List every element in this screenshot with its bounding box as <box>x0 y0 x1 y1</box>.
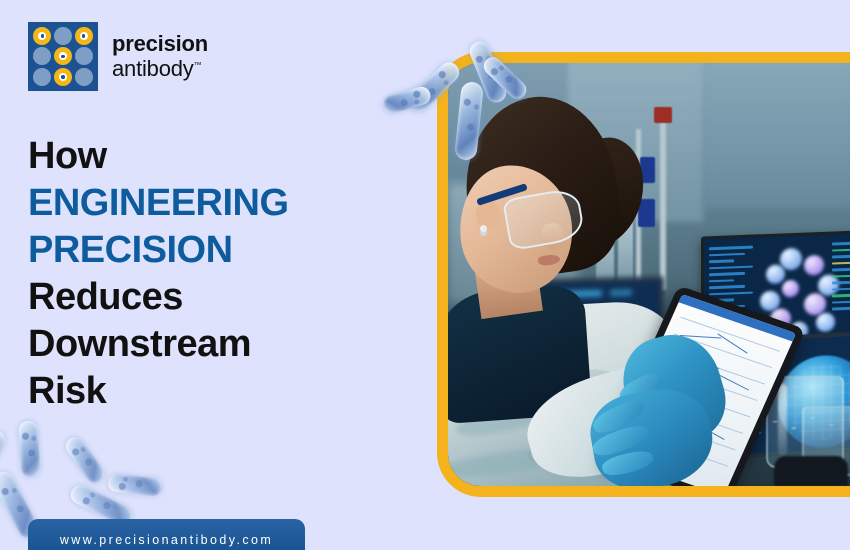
earring <box>480 225 487 232</box>
ui-line <box>832 300 850 304</box>
headline-line-1: How <box>28 133 388 180</box>
lab-scene <box>448 63 850 486</box>
headline-line-6: Risk <box>28 368 388 415</box>
website-url-text: www.precisionantibody.com <box>60 533 273 547</box>
ui-line <box>832 241 850 245</box>
logo-dot-gold <box>75 27 93 45</box>
logo-dot-grey <box>33 68 51 86</box>
ui-line <box>832 306 850 310</box>
brand-name-line1: precision <box>112 33 208 55</box>
logo-dot-grey <box>75 68 93 86</box>
brand-name-line2: antibody™ <box>112 58 208 80</box>
ui-line <box>832 281 850 284</box>
ui-line <box>832 261 850 265</box>
headline-line-4: Reduces <box>28 274 388 321</box>
logo-dot-gold <box>54 68 72 86</box>
ui-line <box>832 267 850 271</box>
bench-equipment <box>774 456 848 486</box>
brand-name-line2-text: antibody <box>112 56 194 81</box>
website-url-pill[interactable]: www.precisionantibody.com <box>28 519 305 550</box>
logo-dot-gold <box>33 27 51 45</box>
headline-line-3: PRECISION <box>28 227 388 274</box>
ui-line <box>832 294 850 297</box>
logo-dot-gold <box>54 47 72 65</box>
headline-line-5: Downstream <box>28 321 388 368</box>
page-title: How ENGINEERING PRECISION Reduces Downst… <box>28 133 388 415</box>
logo-dot-grey <box>54 27 72 45</box>
ui-line <box>832 286 850 290</box>
hero-photo <box>448 63 850 486</box>
ui-line <box>832 274 850 278</box>
precision-antibody-grid-logo-icon <box>28 22 98 91</box>
ui-line <box>832 255 850 258</box>
ui-line <box>832 247 850 251</box>
scientist-figure <box>448 73 744 486</box>
logo-dot-grey <box>75 47 93 65</box>
marketing-banner: precision antibody™ How ENGINEERING PREC… <box>0 0 850 550</box>
brand-wordmark: precision antibody™ <box>112 33 208 80</box>
headline-line-2: ENGINEERING <box>28 180 388 227</box>
brand-logo[interactable]: precision antibody™ <box>28 22 208 91</box>
trademark-symbol: ™ <box>194 61 202 70</box>
hero-photo-frame <box>437 52 850 497</box>
logo-dot-grey <box>33 47 51 65</box>
